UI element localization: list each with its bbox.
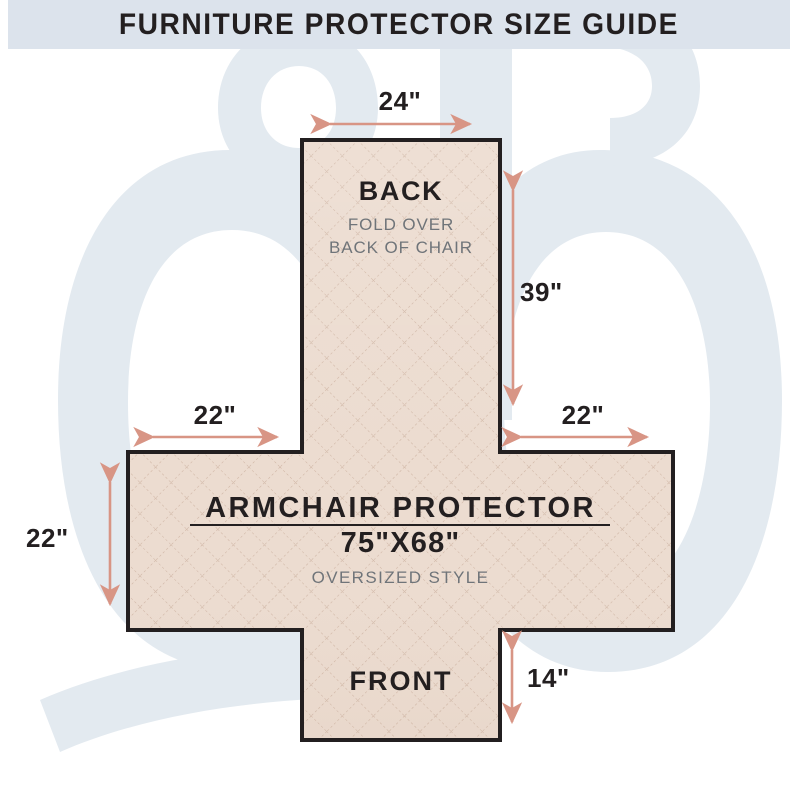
front-label: FRONT [302,666,500,697]
dim-label-right-arm: 22" [518,400,648,431]
back-sub-line-1: FOLD OVER [295,215,507,235]
header-band: FURNITURE PROTECTOR SIZE GUIDE [8,0,790,49]
product-style: OVERSIZED STYLE [128,568,673,588]
product-size: 75"X68" [128,527,673,560]
dim-label-back-height: 39" [520,277,610,308]
dim-label-seat-depth: 22" [26,523,104,554]
back-sub-line-2: BACK OF CHAIR [295,238,507,258]
dim-label-left-arm: 22" [150,400,280,431]
back-label: BACK [302,176,500,207]
title-underline [190,524,610,526]
dim-label-front-skirt: 14" [527,663,617,694]
dim-label-back-width: 24" [335,86,465,117]
page-title: FURNITURE PROTECTOR SIZE GUIDE [119,8,679,42]
product-title: ARMCHAIR PROTECTOR [128,492,673,525]
size-guide-canvas: FURNITURE PROTECTOR SIZE GUIDE [0,0,800,800]
